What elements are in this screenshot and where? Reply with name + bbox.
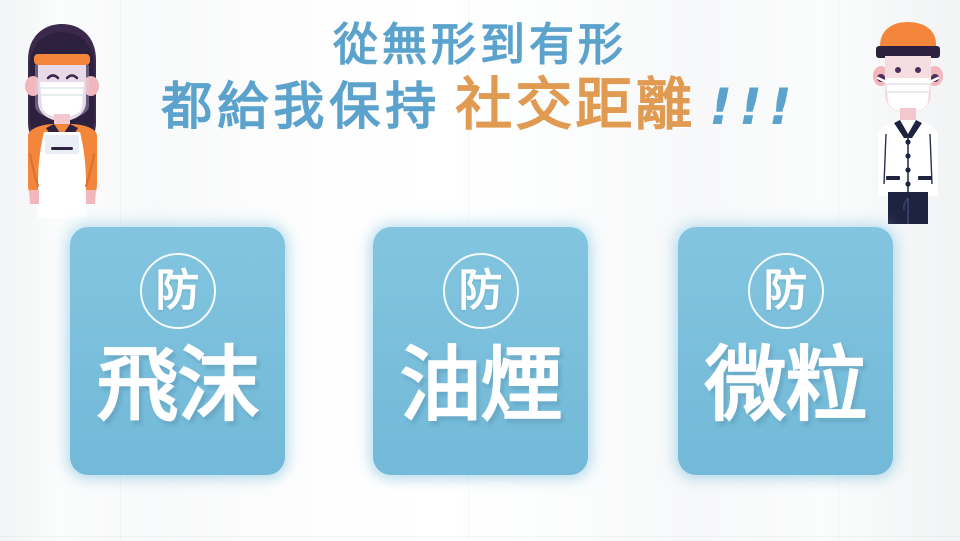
prevention-card-particles[interactable]: 防 微粒 xyxy=(678,227,893,475)
prevention-card-droplets[interactable]: 防 飛沫 xyxy=(70,227,285,475)
headline-line-2-blue-text: 都給我保持 xyxy=(161,77,441,139)
headline-line-2: 都給我保持 社交距離 !!! xyxy=(0,74,960,139)
prevention-card-list: 防 飛沫 防 油煙 防 微粒 xyxy=(0,227,960,477)
headline-line-1: 從無形到有形 xyxy=(0,18,960,72)
headline: 從無形到有形 都給我保持 社交距離 !!! xyxy=(0,18,960,139)
prevention-card-oil-smoke[interactable]: 防 油煙 xyxy=(373,227,588,475)
prevent-badge-icon: 防 xyxy=(140,253,216,329)
prevention-card-label: 微粒 xyxy=(704,343,866,429)
prevention-card-label: 油煙 xyxy=(399,343,561,429)
headline-line-2-orange-text: 社交距離 xyxy=(455,74,695,136)
prevention-card-label: 飛沫 xyxy=(96,343,258,429)
headline-exclamation-marks: !!! xyxy=(709,76,798,138)
poster-canvas: 從無形到有形 都給我保持 社交距離 !!! 防 飛沫 防 油煙 防 微粒 xyxy=(0,0,960,541)
bottom-divider xyxy=(0,536,960,537)
prevent-badge-icon: 防 xyxy=(748,253,824,329)
prevent-badge-icon: 防 xyxy=(443,253,519,329)
